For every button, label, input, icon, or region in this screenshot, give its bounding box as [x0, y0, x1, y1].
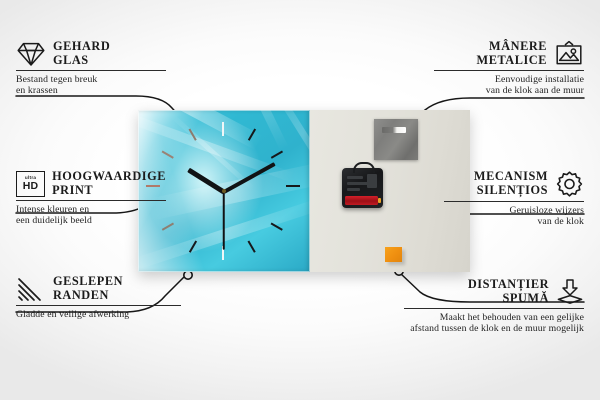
- ultra-hd-icon-bottom-text: HD: [23, 181, 39, 192]
- metal-hanger-plate: [374, 119, 418, 160]
- feature-title-line1: DISTANȚIER: [404, 278, 549, 292]
- feature-subtitle: Maakt het behouden van een gelijke afsta…: [404, 312, 584, 335]
- ultra-hd-icon: ultra HD: [16, 171, 45, 197]
- feature-divider: [16, 200, 166, 201]
- feature-subtitle: Eenvoudige installatie van de klok aan d…: [434, 74, 584, 97]
- endpoint-geslepen-randen: [184, 271, 192, 279]
- feature-subtitle: Intense kleuren en een duidelijk beeld: [16, 204, 166, 227]
- feature-title-line1: GESLEPEN: [53, 275, 123, 289]
- feature-subtitle: Bestand tegen breuk en krassen: [16, 74, 166, 97]
- feature-title: MECANISM SILENȚIOS: [444, 170, 548, 197]
- hanger-slot: [382, 127, 406, 133]
- feature-subtitle: Gladde en veilige afwerking: [16, 309, 181, 321]
- feature-title-line2: SILENȚIOS: [444, 184, 548, 198]
- feature-divider: [16, 305, 181, 306]
- feature-manere-metalice: MÂNERE METALICE Eenvoudige installatie v…: [434, 40, 584, 97]
- feature-subtitle-line1: Eenvoudige installatie: [434, 74, 584, 86]
- feature-subtitle-line1: Gladde en veilige afwerking: [16, 309, 181, 321]
- feature-hoogwaardige-print: ultra HD HOOGWAARDIGE PRINT Intense kleu…: [16, 170, 166, 227]
- beveled-edges-icon: [16, 276, 46, 302]
- feature-title-line2: PRINT: [52, 184, 166, 198]
- feature-title: GEHARD GLAS: [53, 40, 110, 67]
- mechanism-hanging-loop: [353, 162, 375, 173]
- feature-divider: [434, 70, 584, 71]
- feature-divider: [16, 70, 166, 71]
- feature-title-line2: GLAS: [53, 54, 110, 68]
- spacer-arrow-icon: [556, 278, 584, 305]
- feature-title-line1: GEHARD: [53, 40, 110, 54]
- feature-subtitle-line1: Geruisloze wijzers: [444, 205, 584, 217]
- foam-spacer: [385, 247, 402, 262]
- feature-divider: [444, 201, 584, 202]
- feature-title: DISTANȚIER SPUMĂ: [404, 278, 549, 305]
- feature-title-line1: MÂNERE: [434, 40, 547, 54]
- picture-hanger-icon: [554, 40, 584, 67]
- feature-title: MÂNERE METALICE: [434, 40, 547, 67]
- battery: [345, 196, 378, 205]
- feature-title-line1: MECANISM: [444, 170, 548, 184]
- feature-mecanism-silentios: MECANISM SILENȚIOS Geruisloze wijzers va…: [444, 170, 584, 228]
- feature-subtitle-line1: Maakt het behouden van een gelijke: [404, 312, 584, 324]
- gear-icon: [555, 170, 584, 198]
- feature-subtitle-line2: en krassen: [16, 85, 166, 97]
- feature-title-line2: METALICE: [434, 54, 547, 68]
- feature-title-line2: RANDEN: [53, 289, 123, 303]
- feature-subtitle-line2: een duidelijk beeld: [16, 215, 166, 227]
- feature-divider: [404, 308, 584, 309]
- feature-subtitle-line2: van de klok: [444, 216, 584, 228]
- feature-title-line1: HOOGWAARDIGE: [52, 170, 166, 184]
- feature-subtitle-line2: afstand tussen de klok en de muur mogeli…: [404, 323, 584, 335]
- feature-distantier-spuma: DISTANȚIER SPUMĂ Maakt het behouden van …: [404, 278, 584, 335]
- feature-title-line2: SPUMĂ: [404, 292, 549, 306]
- diamond-icon: [16, 41, 46, 67]
- feature-geslepen-randen: GESLEPEN RANDEN Gladde en veilige afwerk…: [16, 275, 181, 320]
- feature-gehard-glas: GEHARD GLAS Bestand tegen breuk en krass…: [16, 40, 166, 97]
- feature-title: GESLEPEN RANDEN: [53, 275, 123, 302]
- feature-subtitle-line1: Bestand tegen breuk: [16, 74, 166, 86]
- product-photo: [138, 110, 470, 272]
- clock-mechanism: [342, 168, 383, 208]
- feature-subtitle-line2: van de klok aan de muur: [434, 85, 584, 97]
- feature-subtitle: Geruisloze wijzers van de klok: [444, 205, 584, 228]
- infographic-canvas: GEHARD GLAS Bestand tegen breuk en krass…: [0, 0, 600, 400]
- feature-title: HOOGWAARDIGE PRINT: [52, 170, 166, 197]
- feature-subtitle-line1: Intense kleuren en: [16, 204, 166, 216]
